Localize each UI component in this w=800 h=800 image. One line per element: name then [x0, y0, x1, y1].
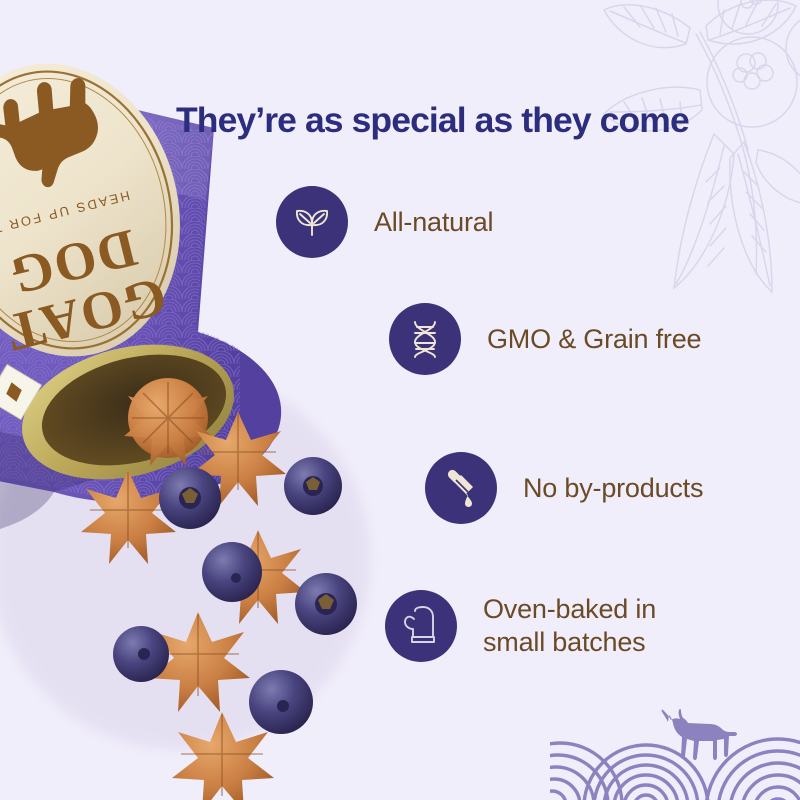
tube-tagline: HEADS UP FOR T [0, 188, 131, 237]
feature-item-all-natural: All-natural [276, 186, 493, 258]
feature-label: GMO & Grain free [487, 323, 701, 356]
page-title: They’re as special as they come [176, 100, 776, 141]
blueberry-branch-watermark [500, 0, 800, 322]
dropper-pipette-icon [425, 452, 497, 524]
feature-item-gmo-grain-free: GMO & Grain free [389, 303, 701, 375]
feature-item-no-by-products: No by-products [425, 452, 703, 524]
feature-label: No by-products [523, 472, 703, 505]
goat-on-hills-watermark [550, 665, 800, 800]
feature-label: Oven-baked in small batches [483, 593, 656, 659]
oven-mitt-icon [385, 590, 457, 662]
promo-graphic: GOAT DOG HEADS UP FOR T [0, 0, 800, 800]
spilled-treats [81, 378, 357, 800]
treat [124, 378, 212, 466]
treat [172, 712, 274, 800]
feature-label: All-natural [374, 206, 493, 239]
blueberry [202, 542, 262, 602]
leaf-sprout-icon [276, 186, 348, 258]
blueberry [159, 467, 221, 529]
blueberry [113, 626, 169, 682]
tube-brand-line-1: GOAT [0, 266, 172, 364]
dna-helix-icon [389, 303, 461, 375]
blueberry [295, 573, 357, 635]
dog-silhouette-icon [0, 72, 110, 198]
blueberry [284, 457, 342, 515]
treat [148, 612, 250, 712]
tube-badge [0, 358, 48, 427]
tube-brand-line-2: DOG [3, 218, 143, 307]
feature-item-oven-baked: Oven-baked in small batches [385, 590, 656, 662]
treat [191, 412, 286, 506]
treat [81, 470, 176, 564]
goat-silhouette-icon [662, 709, 737, 760]
blueberry [249, 670, 313, 734]
treat [211, 530, 306, 624]
